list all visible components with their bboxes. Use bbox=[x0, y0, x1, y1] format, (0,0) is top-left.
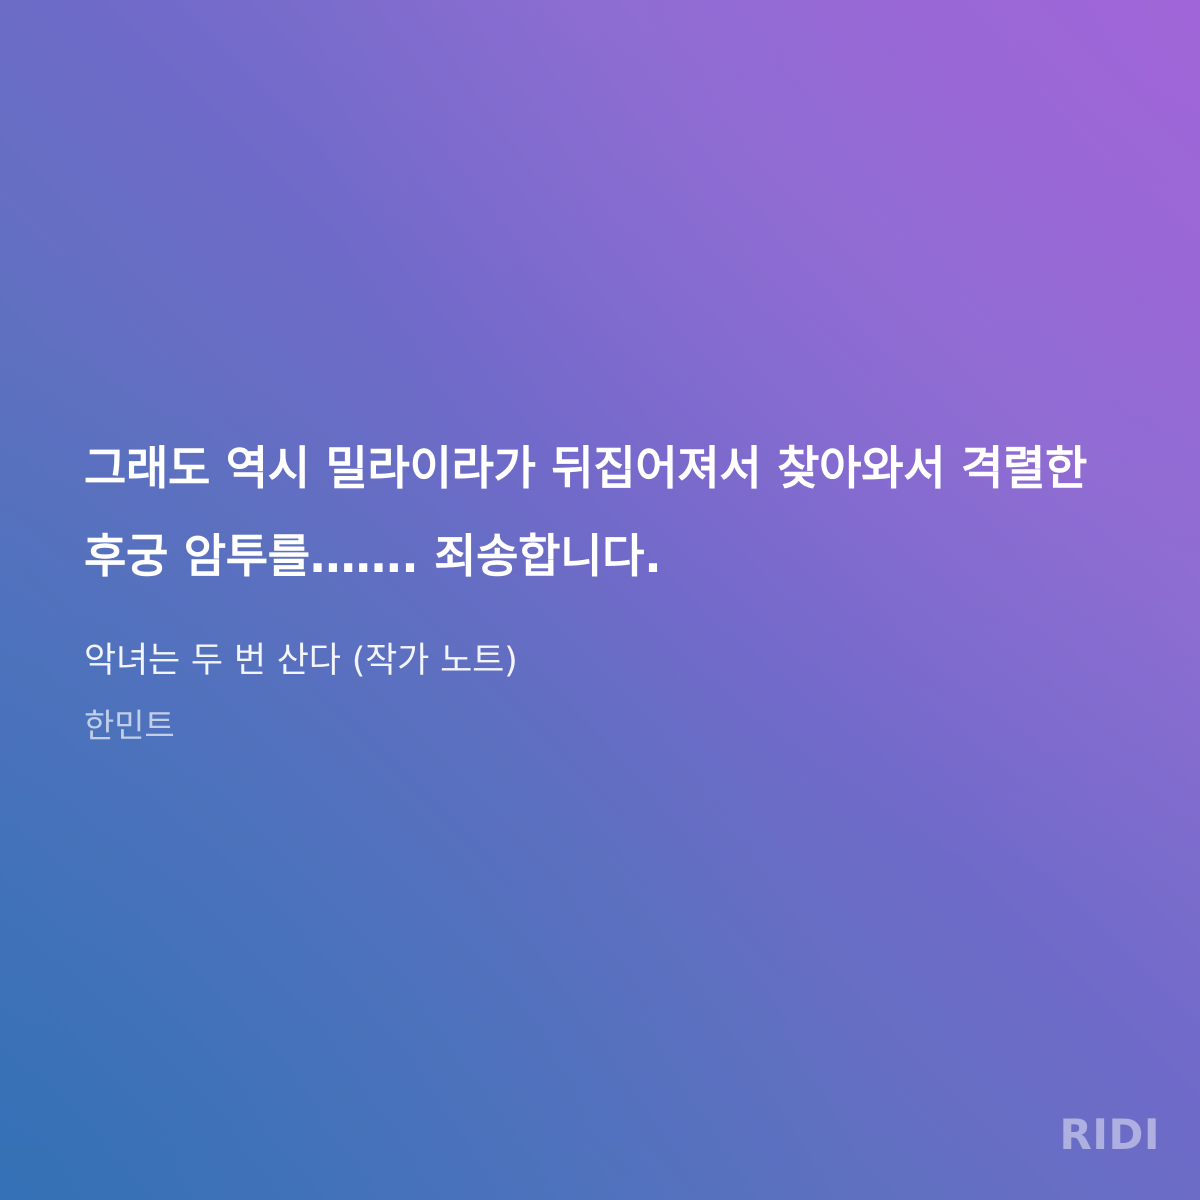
ridi-logo: RIDI bbox=[1060, 1114, 1160, 1156]
book-meta: 악녀는 두 번 산다 (작가 노트) 한민트 bbox=[84, 644, 1124, 742]
book-author: 한민트 bbox=[84, 709, 1124, 742]
quote-content-block: 그래도 역시 밀라이라가 뒤집어져서 찾아와서 격렬한 후궁 암투를……. 죄송… bbox=[84, 424, 1124, 742]
book-title: 악녀는 두 번 산다 (작가 노트) bbox=[84, 644, 1124, 679]
quote-card: 그래도 역시 밀라이라가 뒤집어져서 찾아와서 격렬한 후궁 암투를……. 죄송… bbox=[0, 0, 1200, 1200]
quote-text: 그래도 역시 밀라이라가 뒤집어져서 찾아와서 격렬한 후궁 암투를……. 죄송… bbox=[84, 424, 1124, 600]
